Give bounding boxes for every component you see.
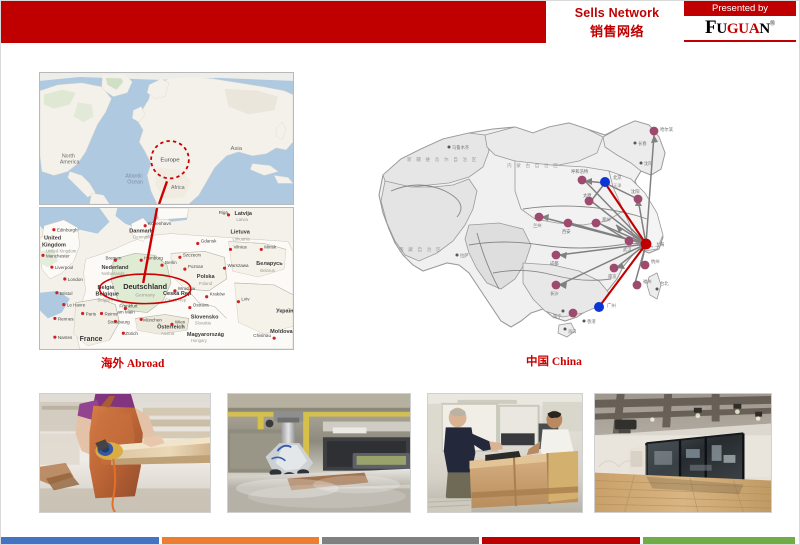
europe-country-moldova: Moldova xyxy=(270,329,293,335)
europe-city-gdansk: Gdansk xyxy=(201,239,217,244)
china-node-hohhot xyxy=(578,176,587,185)
europe-sublabel-hungary: Hungary xyxy=(191,338,208,343)
china-city-shenzhen: 香港 xyxy=(587,318,596,325)
brand-name-fuguan: FUGUAN® xyxy=(705,18,775,37)
china-city-taipei: 台北 xyxy=(660,280,669,287)
china-map-panel: 新 疆 维 吾 尔 自 治 区 西 藏 自 治 区 内 蒙 古 自 治 区 乌鲁… xyxy=(373,113,673,348)
china-hq-label-shanghai: 上海 xyxy=(655,241,665,248)
china-node-fuzhou xyxy=(633,281,642,290)
color-bar-segment-blue xyxy=(1,537,159,545)
europe-city-minsk: Minsk xyxy=(264,244,277,249)
europe-map-panel: United Kingdom Danmark Nederland Belgie … xyxy=(39,207,294,350)
china-node-label-lanzhou: 兰州 xyxy=(533,222,542,229)
europe-sublabel-netherlands: Netherlands xyxy=(102,271,125,276)
world-label-africa: Africa xyxy=(171,185,185,191)
china-region-tibet: 西 藏 自 治 区 xyxy=(399,246,442,253)
europe-city-vilnius: Vilnius xyxy=(233,244,247,249)
china-branch-label-guangzhou: 广州 xyxy=(607,302,616,309)
europe-country-united-kingdom: United xyxy=(44,236,61,242)
china-node-label-taiyuan: 太原 xyxy=(583,192,592,199)
europe-country-lietuva: Lietuva xyxy=(230,230,250,236)
china-node-xian xyxy=(564,219,573,228)
europe-city-frankfurt-2: am Main xyxy=(117,310,135,315)
china-node-label-harbin: 哈尔滨 xyxy=(660,126,673,133)
china-map-graphic: 新 疆 维 吾 尔 自 治 区 西 藏 自 治 区 内 蒙 古 自 治 区 乌鲁… xyxy=(373,113,673,348)
china-node-label-fuzhou: 福州 xyxy=(643,278,652,285)
china-node-label-shenyang: 沈阳 xyxy=(631,188,640,195)
europe-sublabel-poland: Poland xyxy=(199,281,213,286)
europe-sublabel-latvia: Latvia xyxy=(236,217,248,222)
china-region-inner-mongolia: 内 蒙 古 自 治 区 xyxy=(507,162,559,169)
china-node-label-xian: 西安 xyxy=(562,228,571,235)
europe-city-riga: Riga xyxy=(219,210,229,215)
world-map-panel: North America Atlantic Ocean Asia Africa… xyxy=(39,72,294,205)
china-branch-sublabel-beijing: 天津 xyxy=(613,182,621,189)
europe-city-bremen: Bremen xyxy=(105,255,121,260)
china-node-label-wuhan: 武汉 xyxy=(623,246,632,253)
color-bar-segment-green xyxy=(643,537,795,545)
caption-abroad: 海外 Abroad xyxy=(101,355,164,371)
china-city-changchun: 长春 xyxy=(638,140,647,147)
europe-sublabel-germany: Germany xyxy=(135,293,155,299)
china-node-chengdu xyxy=(552,251,561,260)
china-node-zhengzhou xyxy=(592,219,601,228)
color-bar-segment-red xyxy=(482,537,640,545)
europe-sublabel-slovakia: Slovakia xyxy=(195,320,212,325)
europe-city-ostrava: Ostrava xyxy=(193,303,209,308)
china-node-label-hohhot: 呼和浩特 xyxy=(571,168,589,175)
china-node-label-hangzhou: 杭州 xyxy=(651,258,660,265)
europe-city-paris: Paris xyxy=(86,311,97,316)
china-branch-label-beijing: 北京 xyxy=(613,174,622,181)
china-node-nanjing xyxy=(610,264,619,273)
europe-city-krakow: Kraków xyxy=(210,292,226,297)
europe-country-france: France xyxy=(80,336,103,343)
europe-city-london: London xyxy=(68,277,84,282)
europe-city-poznan: Poznan xyxy=(188,264,204,269)
bottom-color-bar xyxy=(1,537,800,545)
europe-city-warszawa: Warszawa xyxy=(228,263,250,268)
china-city-nanning: 南宁 xyxy=(553,313,562,320)
slide-title-chinese: 销售网络 xyxy=(590,21,644,40)
world-label-asia: Asia xyxy=(230,146,242,152)
china-region-xinjiang: 新 疆 维 吾 尔 自 治 区 xyxy=(407,156,478,163)
world-map-graphic: North America Atlantic Ocean Asia Africa… xyxy=(40,73,293,204)
china-city-haikou: 海口 xyxy=(568,328,577,335)
europe-city-wroclaw: Wroclaw xyxy=(178,286,196,291)
brand-logo-block: Presented by FUGUAN® xyxy=(684,1,796,41)
europe-city-liverpool: Liverpool xyxy=(55,265,73,270)
europe-city-manchester: Manchester xyxy=(46,253,70,258)
photo-glass-walled-office-interior xyxy=(594,393,772,513)
china-node-harbin xyxy=(650,127,659,136)
europe-country-deutschland: Deutschland xyxy=(123,282,167,291)
europe-sublabel-belarus: Belarus xyxy=(260,268,274,273)
europe-city-chisinau: Chisinau xyxy=(253,333,271,338)
china-node-hangzhou xyxy=(641,261,650,270)
europe-city-lviv: Lviv xyxy=(241,297,250,302)
europe-country-ukraine: Україна xyxy=(276,309,293,315)
china-hq-shanghai xyxy=(641,239,652,250)
presented-by-bar: Presented by xyxy=(684,1,796,16)
china-node-lanzhou xyxy=(535,213,544,222)
china-city-lhasa: 拉萨 xyxy=(460,252,469,259)
photo-workers-packing-cartons xyxy=(427,393,583,513)
world-label-atlantic-2: Ocean xyxy=(127,179,143,185)
europe-country-polska: Polska xyxy=(197,274,216,280)
europe-sublabel-austria: Austria xyxy=(161,331,175,336)
europe-city-wien: Wien xyxy=(175,319,186,324)
china-branch-beijing xyxy=(600,177,610,187)
color-bar-segment-orange xyxy=(162,537,319,545)
slide-title-english: Sells Network xyxy=(575,6,660,20)
europe-country-belarus: Беларусь xyxy=(256,261,283,267)
world-label-europe: Europe xyxy=(160,158,180,164)
china-node-changsha xyxy=(552,281,561,290)
caption-china: 中国 China xyxy=(526,353,582,369)
china-node-label-nanjing: 南京 xyxy=(608,273,617,280)
europe-sublabel-denmark: Denmark xyxy=(133,235,151,240)
europe-city-strasbourg: Strasbourg xyxy=(107,319,130,324)
europe-city-bristol: Bristol xyxy=(60,291,73,296)
europe-city-munchen: München xyxy=(143,317,162,322)
registered-trademark-icon: ® xyxy=(770,20,775,28)
china-node-label-zhengzhou: 郑州 xyxy=(602,216,611,223)
presented-by-label: Presented by xyxy=(712,3,768,14)
china-city-urumqi: 乌鲁木齐 xyxy=(452,144,470,151)
china-node-wuhan xyxy=(625,237,634,246)
europe-city-rennes: Rennes xyxy=(58,316,74,321)
china-node-haikou xyxy=(569,309,578,318)
europe-city-edinburgh: Edinburgh xyxy=(57,228,78,233)
china-node-shenyang xyxy=(634,195,643,204)
photo-cnc-vacuum-lifter-machine xyxy=(227,393,411,513)
europe-city-zurich: Zürich xyxy=(125,331,138,336)
color-bar-segment-gray xyxy=(322,537,479,545)
europe-city-frankfurt: Frankfurt xyxy=(119,304,138,309)
slide-canvas: Sells Network 销售网络 Presented by FUGUAN® xyxy=(0,0,800,545)
europe-sublabel-lithuania: Lithuania xyxy=(232,237,250,242)
europe-city-kobenhavn: Köbenhavn xyxy=(148,221,171,226)
china-node-label-changsha: 长沙 xyxy=(550,290,559,297)
brand-name-wrap: FUGUAN® xyxy=(684,16,796,39)
europe-map-graphic: United Kingdom Danmark Nederland Belgie … xyxy=(40,208,293,349)
slide-title-block: Sells Network 销售网络 xyxy=(553,3,681,43)
china-branch-guangzhou xyxy=(594,302,604,312)
photo-worker-sanding-wood-panel xyxy=(39,393,211,513)
china-node-label-chengdu: 成都 xyxy=(550,260,559,267)
europe-city-szczecin: Szczecin xyxy=(183,252,202,257)
europe-city-le-havre: Le Havre xyxy=(67,303,86,308)
europe-city-berlin: Berlin xyxy=(165,260,177,265)
logo-underline-rule xyxy=(684,40,796,42)
world-label-north-america-2: America xyxy=(60,160,80,166)
europe-city-reims: Reims xyxy=(104,311,118,316)
europe-city-nantes: Nantes xyxy=(58,335,73,340)
